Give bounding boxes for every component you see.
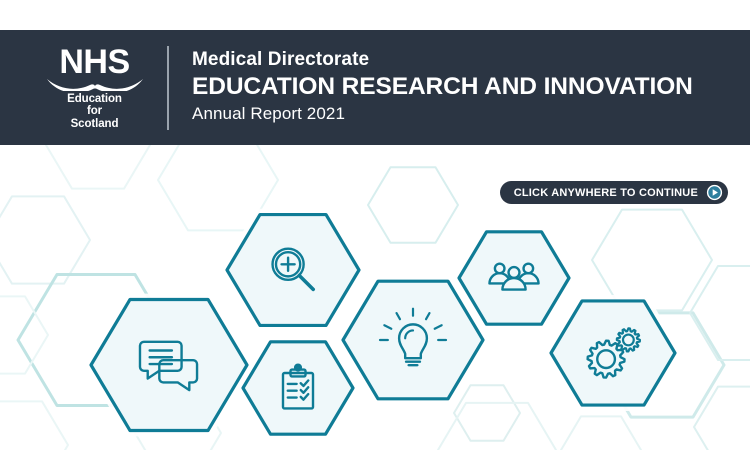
nhs-logo: NHS Education for Scotland: [42, 45, 147, 131]
header-banner: NHS Education for Scotland Medical Direc…: [0, 30, 750, 145]
feature-hexagon-research[interactable]: [223, 211, 363, 329]
nhs-sub-line-2: for: [87, 105, 102, 118]
feature-hexagon-process[interactable]: [547, 298, 679, 409]
feature-hexagon-communication[interactable]: [87, 296, 251, 434]
feature-hexagon-evaluation[interactable]: [239, 338, 357, 437]
click-to-continue-button[interactable]: CLICK ANYWHERE TO CONTINUE: [500, 181, 728, 204]
header-title-block: Medical Directorate EDUCATION RESEARCH A…: [192, 48, 693, 127]
nhs-wordmark: NHS: [59, 45, 129, 79]
nhs-swoosh-icon: [45, 78, 145, 91]
header-divider: [167, 46, 169, 130]
page-title: EDUCATION RESEARCH AND INNOVATION: [192, 72, 693, 101]
play-circle-icon: [706, 184, 723, 201]
slide-canvas[interactable]: NHS Education for Scotland Medical Direc…: [0, 0, 750, 450]
directorate-label: Medical Directorate: [192, 48, 693, 72]
continue-button-label: CLICK ANYWHERE TO CONTINUE: [514, 187, 698, 199]
report-subtitle: Annual Report 2021: [192, 101, 693, 127]
nhs-sub-line-3: Scotland: [71, 118, 119, 131]
nhs-sub-line-1: Education: [67, 93, 122, 106]
